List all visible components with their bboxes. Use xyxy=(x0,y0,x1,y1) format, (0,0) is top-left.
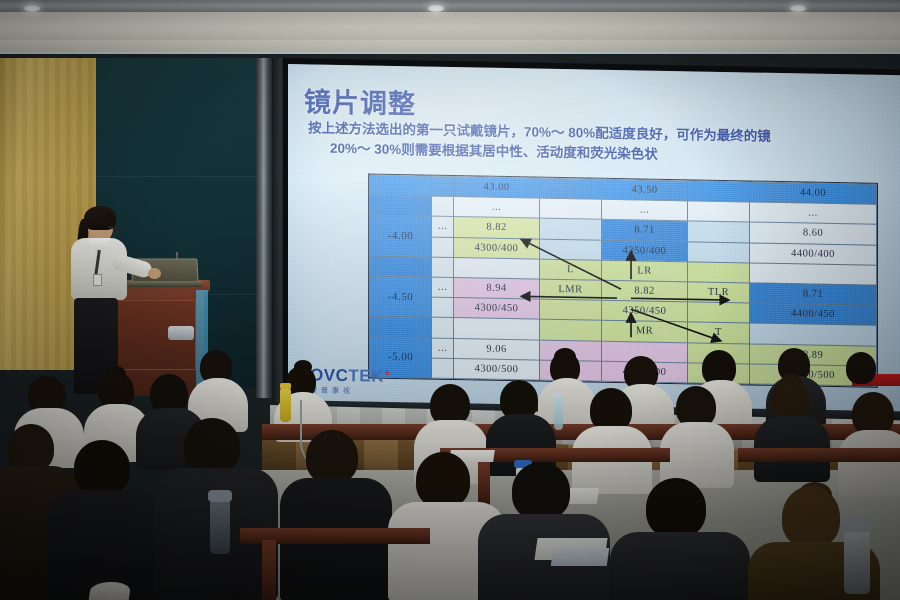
bottle-cap xyxy=(280,383,291,389)
presenter-hand xyxy=(148,268,161,279)
cell-value: 8.82 xyxy=(602,280,688,302)
downlight-icon xyxy=(24,5,40,12)
cell-code: 4350/400 xyxy=(602,240,688,262)
cell-value: 8.71 xyxy=(602,220,688,242)
downlight-icon xyxy=(428,5,444,12)
logo-dot-icon xyxy=(385,371,389,375)
thermos-flask xyxy=(844,528,870,594)
conference-room-scene: 镜片调整 按上述方法选出的第一只试戴镜片，70%～ 80%配适度良好，可作为最终… xyxy=(0,0,900,600)
row-dots: ... xyxy=(432,338,454,359)
cell-code: 4300/500 xyxy=(454,358,540,380)
cup xyxy=(89,582,132,600)
cell-value: 8.71 xyxy=(750,283,877,306)
col-header-4300: 43.00 xyxy=(454,177,540,199)
annotation-L: L xyxy=(540,259,602,280)
downlight-icon xyxy=(790,5,806,12)
thermos-flask xyxy=(210,498,230,554)
desk-row xyxy=(738,448,900,462)
annotation-LMR: LMR xyxy=(540,279,602,300)
row-dots: ... xyxy=(432,217,454,238)
slide-subtitle-line2: 20%～ 30%则需要根据其居中性、活动度和荧光染色状 xyxy=(308,138,900,169)
annotation-T: T xyxy=(688,322,750,343)
slide-title: 镜片调整 xyxy=(304,80,416,121)
bottle-cap xyxy=(554,392,563,398)
cell-code: 4400/400 xyxy=(750,243,877,266)
annotation-TLR: TLR xyxy=(688,282,750,303)
slide-subtitle: 按上述方法选出的第一只试戴镜片，70%～ 80%配适度良好，可作为最终的镜 20… xyxy=(308,118,900,168)
desk-leg xyxy=(478,460,490,506)
document-sheet xyxy=(551,548,610,566)
annotation-MR: MR xyxy=(602,321,688,343)
col-header-4350: 43.50 xyxy=(602,179,688,201)
cell-code: 4300/400 xyxy=(454,237,540,259)
metal-trim-strip xyxy=(256,58,272,398)
cell-value: 9.06 xyxy=(454,338,540,360)
cell-code: 4350/450 xyxy=(602,300,688,322)
cell-code: 4300/450 xyxy=(454,298,540,320)
water-bottle xyxy=(554,396,563,430)
stage-chair xyxy=(168,326,194,340)
cell-value: 8.60 xyxy=(750,222,877,245)
juice-bottle xyxy=(280,388,291,422)
flask-cap xyxy=(842,518,872,532)
cell-code: 4400/450 xyxy=(750,303,877,326)
cell-ellipsis: ... xyxy=(602,199,688,221)
cell-ellipsis: ... xyxy=(750,202,877,225)
cell-value: 8.82 xyxy=(454,217,540,239)
cell-value: 8.94 xyxy=(454,277,540,299)
presenter xyxy=(60,206,146,396)
row-label-minus4: -4.00 xyxy=(370,215,432,257)
ovctek-logo: OVCTEK 欧普康视 xyxy=(310,366,389,396)
logo-letters-tek: TEK xyxy=(348,366,384,386)
logo-letters-vc: VC xyxy=(324,366,349,385)
presenter-badge xyxy=(93,274,102,286)
annotation-LR: LR xyxy=(602,260,688,282)
flask-cap xyxy=(208,490,232,502)
row-label-minus45: -4.50 xyxy=(370,276,432,318)
row-dots: ... xyxy=(432,277,454,298)
col-header-4400: 44.00 xyxy=(750,182,877,205)
cell-ellipsis: ... xyxy=(454,197,540,219)
logo-chinese-name: 欧普康视 xyxy=(310,385,389,396)
desk-leg xyxy=(262,540,276,600)
